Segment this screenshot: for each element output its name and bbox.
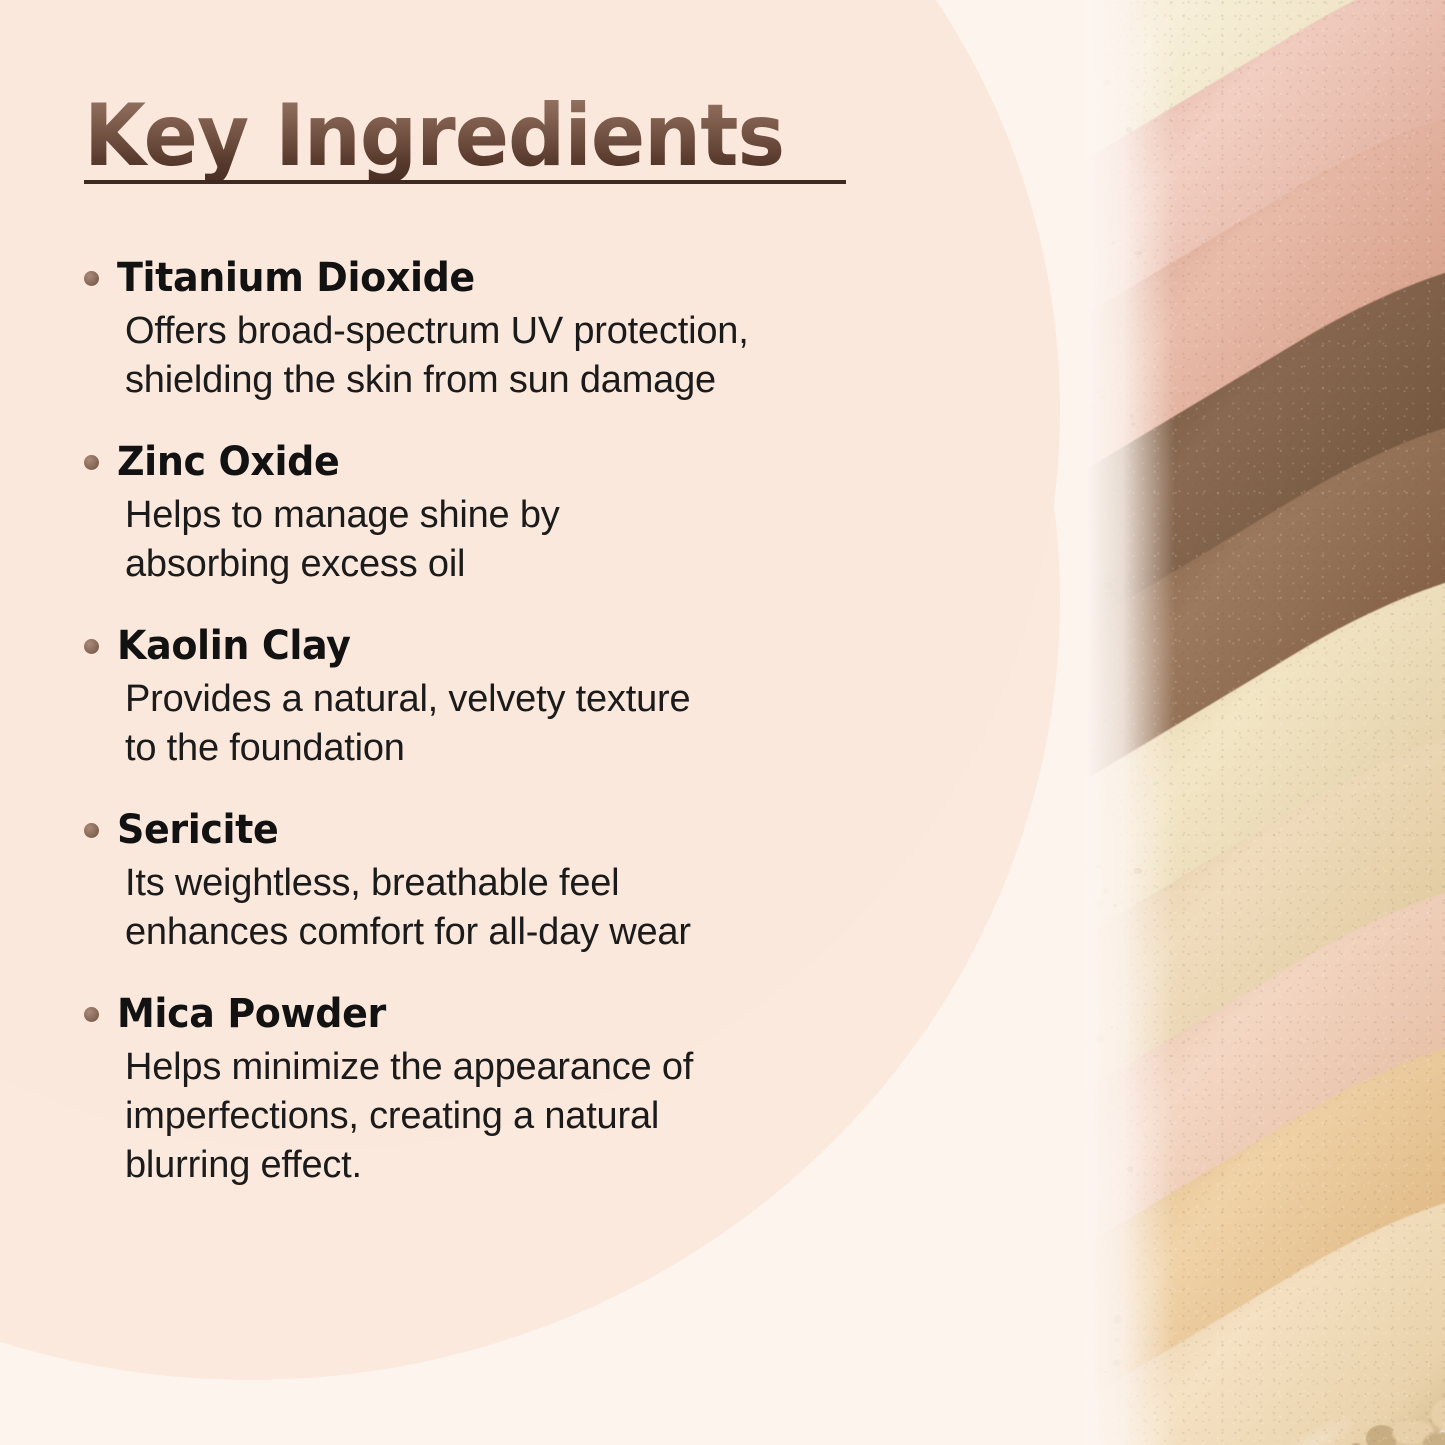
ingredient-name: Titanium Dioxide — [117, 255, 475, 301]
ingredient-name: Kaolin Clay — [117, 623, 351, 669]
ingredient-list: Titanium Dioxide Offers broad-spectrum U… — [84, 255, 984, 1224]
powder-speck — [1133, 868, 1142, 873]
powder-speck — [1102, 888, 1108, 894]
powder-speck — [1111, 241, 1116, 245]
powder-speck — [1085, 862, 1094, 870]
ingredient-name: Zinc Oxide — [117, 439, 339, 485]
content-column: Key Ingredients Key Ingredients Titanium… — [0, 0, 1040, 1445]
powder-speck — [1085, 609, 1088, 611]
list-item: Zinc Oxide Helps to manage shine by abso… — [84, 439, 984, 589]
powder-speck — [1129, 415, 1133, 417]
infographic-page: Key Ingredients Key Ingredients Titanium… — [0, 0, 1445, 1445]
ingredient-description: Helps minimize the appearance of imperfe… — [125, 1043, 955, 1190]
ingredient-description: Its weightless, breathable feel enhances… — [125, 859, 955, 957]
page-title-wrap: Key Ingredients Key Ingredients — [84, 88, 864, 184]
powder-speck — [1087, 1006, 1092, 1010]
powder-speck — [1104, 582, 1113, 588]
powder-speck — [1089, 748, 1095, 754]
powder-speck — [1097, 1367, 1102, 1371]
powder-speck — [1089, 445, 1092, 446]
powder-speck — [1095, 1035, 1104, 1043]
list-item: Titanium Dioxide Offers broad-spectrum U… — [84, 255, 984, 405]
powder-speck — [1113, 1315, 1122, 1324]
powder-speck — [1095, 900, 1103, 908]
ingredient-description: Provides a natural, velvety texture to t… — [125, 675, 955, 773]
list-item: Sericite Its weightless, breathable feel… — [84, 807, 984, 957]
powder-speck — [1099, 395, 1106, 401]
powder-swatch-image — [1085, 0, 1445, 1445]
powder-speck — [1085, 723, 1089, 728]
powder-speck — [1110, 1026, 1113, 1029]
powder-speck — [1085, 711, 1091, 717]
powder-speck — [1096, 391, 1101, 394]
powder-bands-container — [1085, 0, 1445, 1445]
bullet-dot-icon — [84, 1007, 99, 1022]
ingredient-heading: Mica Powder — [84, 991, 984, 1037]
powder-speck — [1114, 1338, 1119, 1341]
ingredient-heading: Kaolin Clay — [84, 623, 984, 669]
bullet-dot-icon — [84, 639, 99, 654]
powder-speck — [1085, 1043, 1088, 1047]
bullet-dot-icon — [84, 823, 99, 838]
ingredient-heading: Sericite — [84, 807, 984, 853]
bullet-dot-icon — [84, 271, 99, 286]
page-title: Key Ingredients — [84, 88, 809, 184]
ingredient-name: Mica Powder — [117, 991, 386, 1037]
list-item: Kaolin Clay Provides a natural, velvety … — [84, 623, 984, 773]
powder-speck — [1103, 719, 1106, 722]
ingredient-heading: Zinc Oxide — [84, 439, 984, 485]
powder-speck — [1113, 904, 1116, 907]
ingredient-name: Sericite — [117, 807, 278, 853]
ingredient-heading: Titanium Dioxide — [84, 255, 984, 301]
powder-speck — [1090, 406, 1096, 409]
title-underline — [84, 180, 846, 184]
ingredient-description: Helps to manage shine by absorbing exces… — [125, 491, 955, 589]
ingredient-description: Offers broad-spectrum UV protection, shi… — [125, 307, 955, 405]
powder-speck — [1112, 1360, 1120, 1366]
powder-speck — [1134, 251, 1143, 256]
bullet-dot-icon — [84, 455, 99, 470]
list-item: Mica Powder Helps minimize the appearanc… — [84, 991, 984, 1190]
